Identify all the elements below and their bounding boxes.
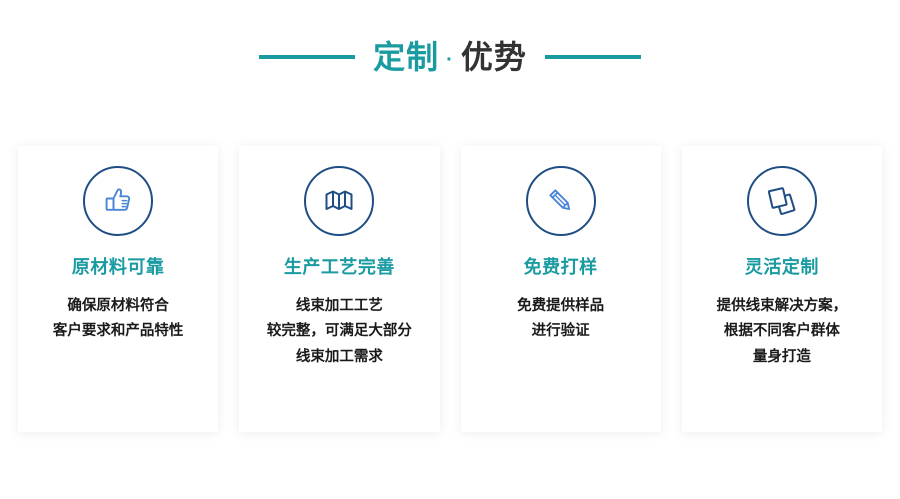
advantages-section: 定制 · 优势 原材料可靠 确保原材料符合 客户要求和产品特性 [0, 0, 900, 499]
page-title: 定制 · 优势 [373, 41, 527, 73]
pencil-icon [526, 166, 596, 236]
feature-card-flexible-customization[interactable]: 灵活定制 提供线束解决方案， 根据不同客户群体 量身打造 [682, 146, 882, 432]
card-title: 灵活定制 [745, 258, 819, 276]
card-title: 免费打样 [524, 258, 598, 276]
card-body: 确保原材料符合 客户要求和产品特性 [43, 294, 194, 345]
thumbs-up-icon [83, 166, 153, 236]
card-title: 生产工艺完善 [284, 258, 395, 276]
heading-rule-left [259, 55, 355, 59]
card-body: 线束加工工艺 较完整，可满足大部分 线束加工需求 [257, 294, 422, 370]
card-body: 提供线束解决方案， 根据不同客户群体 量身打造 [707, 294, 858, 370]
card-title: 原材料可靠 [72, 258, 165, 276]
feature-card-material-reliable[interactable]: 原材料可靠 确保原材料符合 客户要求和产品特性 [18, 146, 218, 432]
feature-card-production-process[interactable]: 生产工艺完善 线束加工工艺 较完整，可满足大部分 线束加工需求 [239, 146, 439, 432]
feature-card-free-sample[interactable]: 免费打样 免费提供样品 进行验证 [461, 146, 661, 432]
stacked-cards-icon [747, 166, 817, 236]
card-body: 免费提供样品 进行验证 [507, 294, 614, 345]
section-header: 定制 · 优势 [0, 28, 900, 86]
heading-secondary-text: 优势 [461, 41, 527, 73]
folded-map-icon [304, 166, 374, 236]
heading-primary-text: 定制 [373, 41, 439, 73]
feature-card-list: 原材料可靠 确保原材料符合 客户要求和产品特性 生产工艺完善 线束加工工艺 较完… [18, 146, 882, 432]
heading-separator-dot: · [445, 50, 455, 70]
heading-rule-right [545, 55, 641, 59]
